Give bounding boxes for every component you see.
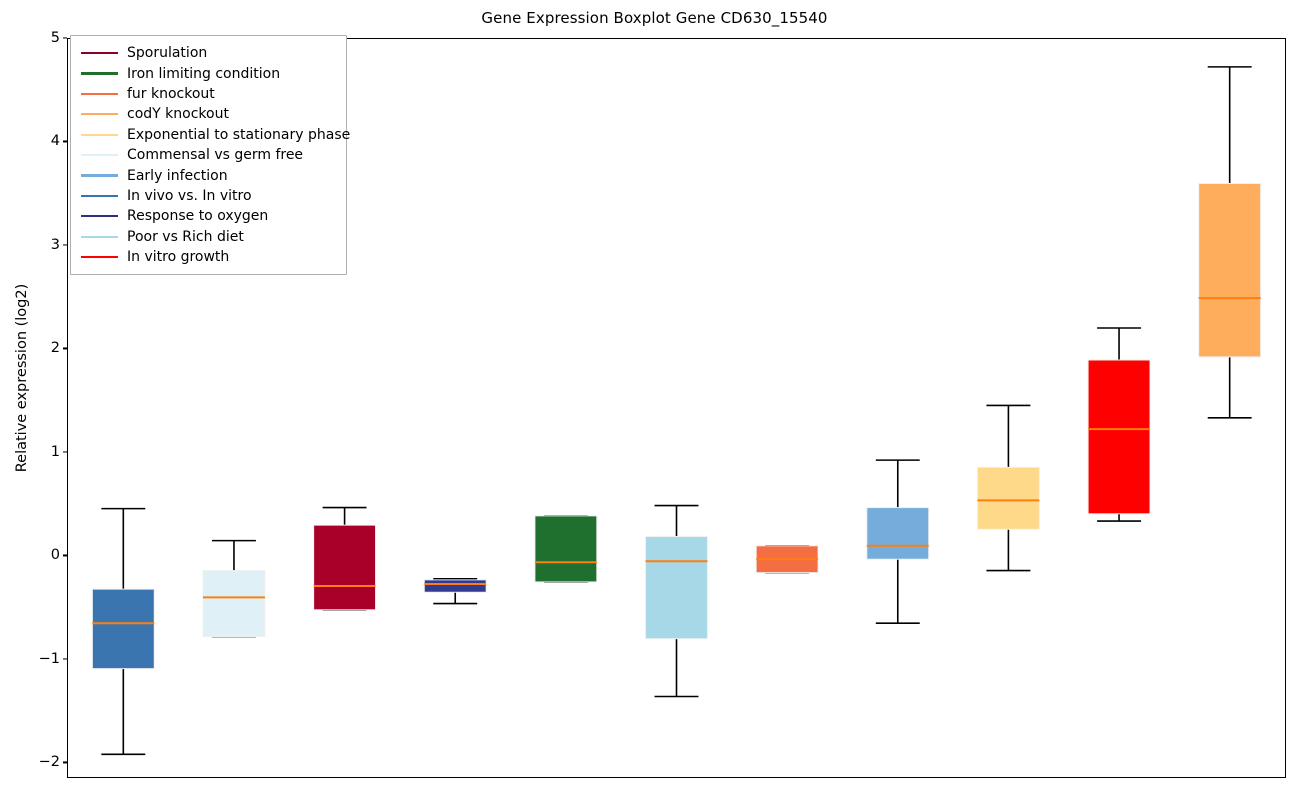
y-axis-label: Relative expression (log2) bbox=[14, 168, 30, 588]
legend-item-label: Response to oxygen bbox=[127, 209, 268, 223]
chart-title: Gene Expression Boxplot Gene CD630_15540 bbox=[0, 9, 1309, 27]
legend-item[interactable]: Response to oxygen bbox=[71, 206, 346, 226]
y-axis-tick-label: 3 bbox=[0, 237, 60, 253]
legend-item[interactable]: codY knockout bbox=[71, 104, 346, 124]
legend-color-swatch-icon bbox=[81, 134, 118, 136]
legend-item[interactable]: In vivo vs. In vitro bbox=[71, 186, 346, 206]
legend-color-swatch-icon bbox=[81, 72, 118, 74]
legend-color-swatch-icon bbox=[81, 195, 118, 197]
legend-color-swatch-icon bbox=[81, 215, 118, 217]
legend-item-label: In vitro growth bbox=[127, 250, 229, 264]
boxplot-box bbox=[1088, 328, 1150, 521]
legend-item-label: In vivo vs. In vitro bbox=[127, 189, 252, 203]
box-rect bbox=[203, 571, 265, 637]
legend-item[interactable]: Exponential to stationary phase bbox=[71, 125, 346, 145]
legend-item[interactable]: Early infection bbox=[71, 165, 346, 185]
boxplot-box bbox=[314, 508, 376, 610]
boxplot-box bbox=[646, 506, 708, 697]
y-axis-tick-label: 0 bbox=[0, 547, 60, 563]
legend-item[interactable]: Iron limiting condition bbox=[71, 63, 346, 83]
box-rect bbox=[535, 516, 597, 582]
boxplot-box bbox=[424, 579, 486, 604]
legend-item-label: Sporulation bbox=[127, 46, 207, 60]
boxplot-box bbox=[756, 546, 818, 573]
legend-color-swatch-icon bbox=[81, 154, 118, 156]
y-axis-tick-label: 1 bbox=[0, 444, 60, 460]
boxplot-box bbox=[203, 541, 265, 637]
legend-item-label: Exponential to stationary phase bbox=[127, 128, 350, 142]
legend: SporulationIron limiting conditionfur kn… bbox=[70, 35, 347, 275]
legend-item[interactable]: Sporulation bbox=[71, 43, 346, 63]
legend-item-label: Commensal vs germ free bbox=[127, 148, 303, 162]
legend-color-swatch-icon bbox=[81, 174, 118, 176]
y-axis-tick-label: 4 bbox=[0, 133, 60, 149]
figure-canvas: Gene Expression Boxplot Gene CD630_15540… bbox=[0, 0, 1309, 812]
box-rect bbox=[424, 580, 486, 592]
box-rect bbox=[867, 508, 929, 560]
legend-item[interactable]: In vitro growth bbox=[71, 247, 346, 267]
box-rect bbox=[1199, 184, 1261, 357]
box-rect bbox=[314, 525, 376, 610]
legend-item-label: Early infection bbox=[127, 169, 228, 183]
box-rect bbox=[646, 537, 708, 639]
boxplot-box bbox=[535, 516, 597, 582]
legend-color-swatch-icon bbox=[81, 256, 118, 258]
y-axis-tick-label: 2 bbox=[0, 340, 60, 356]
legend-item-label: Iron limiting condition bbox=[127, 67, 280, 81]
legend-item-label: codY knockout bbox=[127, 107, 229, 121]
legend-item-label: Poor vs Rich diet bbox=[127, 230, 244, 244]
boxplot-box bbox=[977, 405, 1039, 570]
legend-item[interactable]: Commensal vs germ free bbox=[71, 145, 346, 165]
boxplot-box bbox=[92, 509, 154, 755]
legend-color-swatch-icon bbox=[81, 52, 118, 54]
legend-item-label: fur knockout bbox=[127, 87, 215, 101]
boxplot-box bbox=[1199, 67, 1261, 418]
boxplot-box bbox=[867, 460, 929, 623]
box-rect bbox=[92, 589, 154, 668]
y-axis-tick-label: −1 bbox=[0, 651, 60, 667]
legend-color-swatch-icon bbox=[81, 93, 118, 95]
legend-item[interactable]: Poor vs Rich diet bbox=[71, 227, 346, 247]
y-axis-tick-label: −2 bbox=[0, 754, 60, 770]
legend-color-swatch-icon bbox=[81, 236, 118, 238]
y-axis-tick-label: 5 bbox=[0, 30, 60, 46]
box-rect bbox=[977, 467, 1039, 529]
box-rect bbox=[1088, 360, 1150, 514]
legend-color-swatch-icon bbox=[81, 113, 118, 115]
legend-item[interactable]: fur knockout bbox=[71, 84, 346, 104]
